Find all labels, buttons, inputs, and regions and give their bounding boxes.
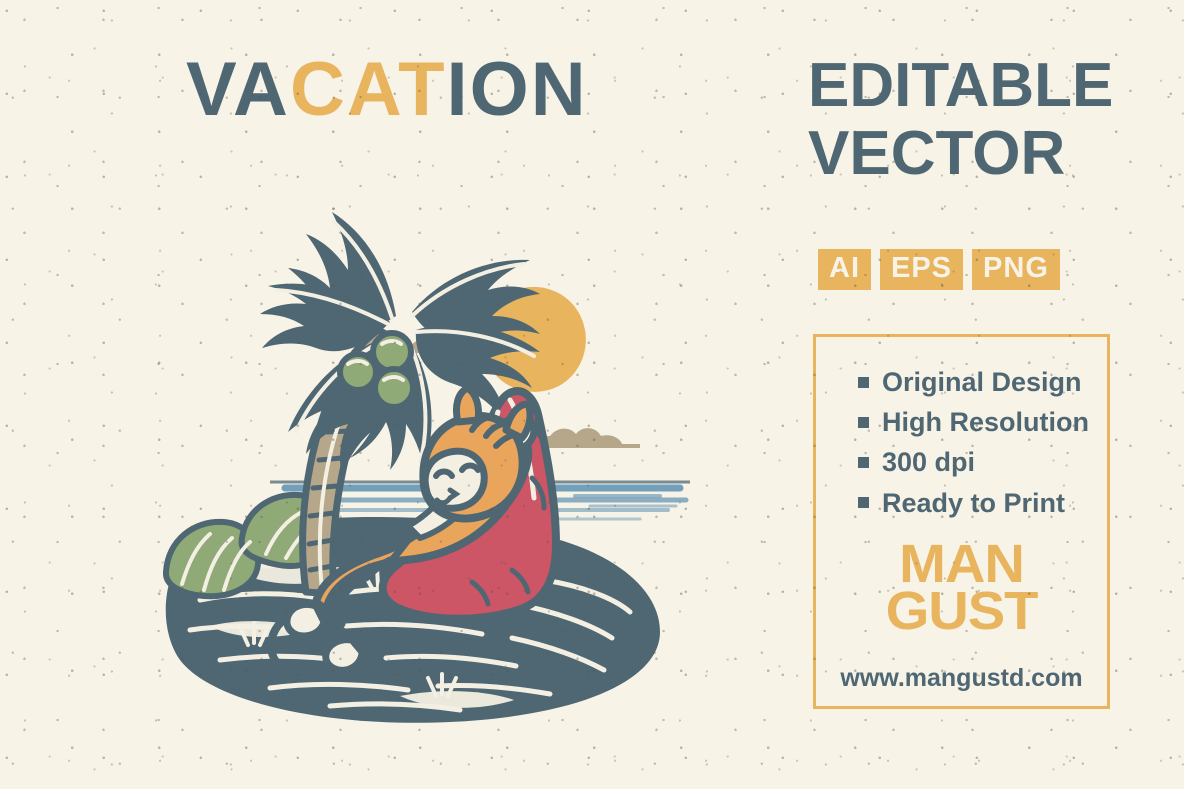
feature-label: High Resolution (882, 407, 1089, 437)
format-badge-eps[interactable]: EPS (880, 249, 963, 290)
poster-canvas: VACATION (0, 0, 1184, 789)
list-item: High Resolution (858, 407, 1089, 437)
feature-label: 300 dpi (882, 447, 975, 477)
page-title: VACATION (186, 52, 588, 128)
list-item: Original Design (858, 367, 1089, 397)
list-item: 300 dpi (858, 447, 1089, 477)
format-badge-row: AI EPS PNG (818, 249, 1060, 290)
headline-line-2: VECTOR (808, 124, 1065, 184)
bullet-square-icon (858, 417, 869, 428)
feature-list: Original Design High Resolution 300 dpi … (858, 367, 1089, 528)
headline-line-1: EDITABLE (808, 56, 1113, 116)
format-badge-png[interactable]: PNG (972, 249, 1060, 290)
brand-logo: MAN GUST (816, 542, 1107, 635)
list-item: Ready to Print (858, 488, 1089, 518)
bullet-square-icon (858, 377, 869, 388)
info-panel: EDITABLE VECTOR AI EPS PNG Original Desi… (806, 0, 1126, 789)
bullet-square-icon (858, 497, 869, 508)
feature-box: Original Design High Resolution 300 dpi … (813, 334, 1110, 709)
illustration (120, 140, 720, 740)
brand-website[interactable]: www.mangustd.com (816, 664, 1107, 693)
title-part-va: VA (186, 47, 290, 132)
feature-label: Original Design (882, 367, 1082, 397)
feature-label: Ready to Print (882, 488, 1065, 518)
brand-logo-line-2: GUST (810, 588, 1113, 636)
title-part-cat: CAT (290, 47, 447, 132)
format-badge-ai[interactable]: AI (818, 249, 871, 290)
bullet-square-icon (858, 457, 869, 468)
title-part-ion: ION (447, 47, 588, 132)
